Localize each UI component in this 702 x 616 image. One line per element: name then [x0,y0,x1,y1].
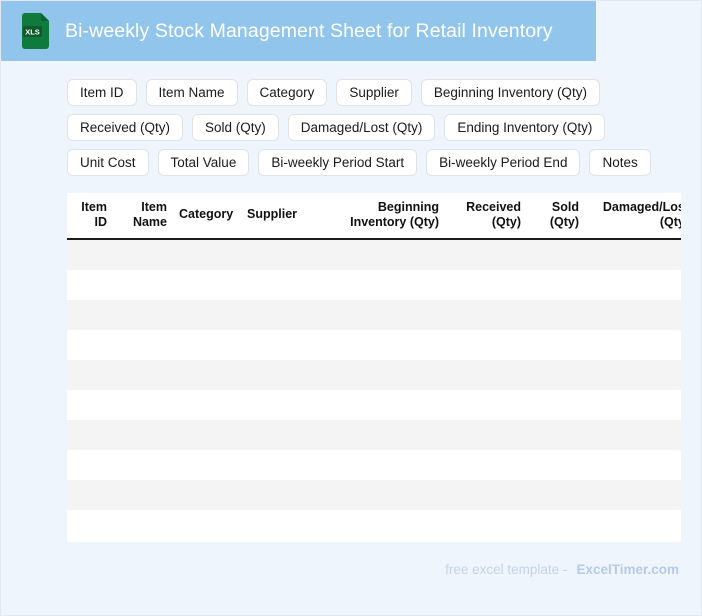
field-chip-period-start[interactable]: Bi-weekly Period Start [258,149,417,176]
table-cell[interactable] [527,270,585,300]
table-cell[interactable] [113,510,173,540]
table-cell[interactable] [585,360,681,390]
table-cell[interactable] [173,390,241,420]
table-cell[interactable] [113,270,173,300]
table-row[interactable] [67,480,681,510]
table-cell[interactable] [527,510,585,540]
page-title: Bi-weekly Stock Management Sheet for Ret… [65,20,553,43]
table-cell[interactable] [319,270,445,300]
field-chip-period-end[interactable]: Bi-weekly Period End [426,149,580,176]
table-cell[interactable] [173,270,241,300]
table-cell[interactable] [113,360,173,390]
document-page: XLS Bi-weekly Stock Management Sheet for… [0,0,702,616]
table-row[interactable] [67,390,681,420]
table-body [67,239,681,540]
table-cell[interactable] [173,239,241,270]
field-chip-damaged-lost[interactable]: Damaged/Lost (Qty) [288,114,436,141]
table-cell[interactable] [113,420,173,450]
table-cell[interactable] [241,330,319,360]
table-cell[interactable] [527,420,585,450]
table-cell[interactable] [67,330,113,360]
table-cell[interactable] [585,330,681,360]
table-cell[interactable] [113,390,173,420]
table-cell[interactable] [173,480,241,510]
table-cell[interactable] [445,510,527,540]
table-cell[interactable] [241,420,319,450]
table-cell[interactable] [319,480,445,510]
table-row[interactable] [67,360,681,390]
footer-lead-text: free excel template - [445,562,567,577]
document-header: XLS Bi-weekly Stock Management Sheet for… [1,1,596,61]
column-header-received[interactable]: Received (Qty) [445,193,527,239]
table-cell[interactable] [445,270,527,300]
field-chip-unit-cost[interactable]: Unit Cost [67,149,149,176]
table-header-row: Item ID Item Name Category Supplier Begi… [67,193,681,239]
column-header-sold[interactable]: Sold (Qty) [527,193,585,239]
table-cell[interactable] [241,480,319,510]
table-cell[interactable] [173,450,241,480]
table-cell[interactable] [173,510,241,540]
table-cell[interactable] [241,270,319,300]
table-cell[interactable] [585,270,681,300]
table-cell[interactable] [527,450,585,480]
table-cell[interactable] [241,300,319,330]
table-cell[interactable] [585,420,681,450]
table-cell[interactable] [173,330,241,360]
table-cell[interactable] [241,390,319,420]
table-row[interactable] [67,270,681,300]
field-chip-item-id[interactable]: Item ID [67,79,137,106]
table-cell[interactable] [67,360,113,390]
table-cell[interactable] [113,300,173,330]
table-row[interactable] [67,450,681,480]
table-cell[interactable] [527,480,585,510]
svg-text:XLS: XLS [25,28,40,37]
field-chip-item-name[interactable]: Item Name [146,79,238,106]
table-row[interactable] [67,420,681,450]
table-row[interactable] [67,300,681,330]
field-chip-notes[interactable]: Notes [589,149,650,176]
table-cell[interactable] [67,510,113,540]
table-cell[interactable] [113,239,173,270]
xls-file-icon: XLS [22,12,52,50]
table-cell[interactable] [241,510,319,540]
column-header-damaged-lost[interactable]: Damaged/Lost (Qty) [585,193,681,239]
table-cell[interactable] [445,330,527,360]
table-cell[interactable] [445,450,527,480]
inventory-table: Item ID Item Name Category Supplier Begi… [67,193,681,540]
table-cell[interactable] [319,239,445,270]
table-cell[interactable] [173,360,241,390]
table-cell[interactable] [67,239,113,270]
table-cell[interactable] [585,239,681,270]
footer-watermark: free excel template - ExcelTimer.com [445,562,679,577]
table-cell[interactable] [67,480,113,510]
field-chip-list: Item ID Item Name Category Supplier Begi… [67,79,693,176]
table-cell[interactable] [319,360,445,390]
table-cell[interactable] [173,420,241,450]
table-cell[interactable] [527,239,585,270]
table-cell[interactable] [585,450,681,480]
table-cell[interactable] [67,300,113,330]
table-cell[interactable] [445,300,527,330]
column-header-item-id[interactable]: Item ID [67,193,113,239]
table-cell[interactable] [319,390,445,420]
table-row[interactable] [67,510,681,540]
table-cell[interactable] [241,450,319,480]
table-cell[interactable] [585,300,681,330]
field-chip-ending-inventory[interactable]: Ending Inventory (Qty) [444,114,605,141]
column-header-beginning-inventory[interactable]: Beginning Inventory (Qty) [319,193,445,239]
field-chip-total-value[interactable]: Total Value [158,149,250,176]
sheet-preview: Item ID Item Name Category Supplier Begi… [67,193,681,542]
table-cell[interactable] [113,480,173,510]
table-cell[interactable] [445,360,527,390]
column-header-supplier[interactable]: Supplier [241,193,319,239]
table-cell[interactable] [113,330,173,360]
table-cell[interactable] [527,300,585,330]
table-cell[interactable] [445,420,527,450]
table-cell[interactable] [241,239,319,270]
table-cell[interactable] [67,390,113,420]
table-cell[interactable] [319,300,445,330]
table-cell[interactable] [319,450,445,480]
table-cell[interactable] [173,300,241,330]
table-cell[interactable] [67,450,113,480]
table-cell[interactable] [445,239,527,270]
table-cell[interactable] [319,420,445,450]
table-cell[interactable] [67,270,113,300]
table-cell[interactable] [319,510,445,540]
table-row[interactable] [67,330,681,360]
field-chip-supplier[interactable]: Supplier [336,79,412,106]
footer-brand-link[interactable]: ExcelTimer.com [576,562,679,577]
table-cell[interactable] [67,420,113,450]
table-cell[interactable] [241,360,319,390]
table-cell[interactable] [585,390,681,420]
table-cell[interactable] [527,360,585,390]
table-row[interactable] [67,239,681,270]
table-cell[interactable] [527,330,585,360]
field-chip-sold[interactable]: Sold (Qty) [192,114,279,141]
table-cell[interactable] [445,480,527,510]
table-cell[interactable] [527,390,585,420]
table-cell[interactable] [585,510,681,540]
table-cell[interactable] [113,450,173,480]
table-cell[interactable] [585,480,681,510]
column-header-item-name[interactable]: Item Name [113,193,173,239]
field-chip-received[interactable]: Received (Qty) [67,114,183,141]
field-chip-category[interactable]: Category [247,79,328,106]
field-chip-beginning-inventory[interactable]: Beginning Inventory (Qty) [421,79,600,106]
column-header-category[interactable]: Category [173,193,241,239]
table-cell[interactable] [445,390,527,420]
table-cell[interactable] [319,330,445,360]
